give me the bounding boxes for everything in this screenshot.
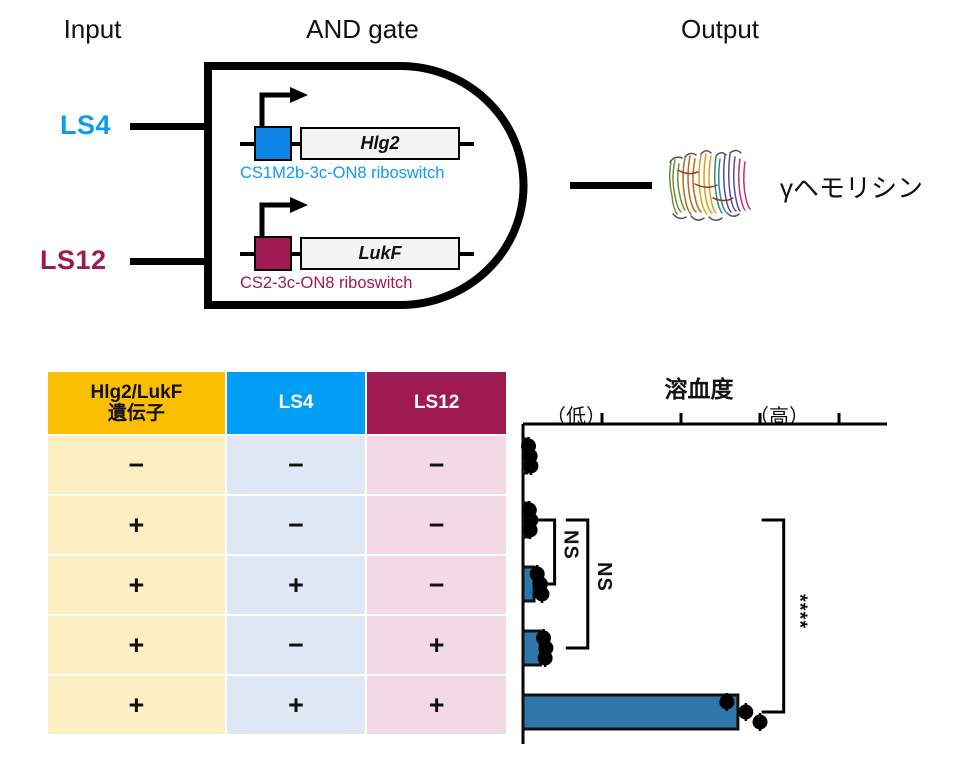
table-row: − − − bbox=[48, 436, 506, 494]
sig-label-stars: **** bbox=[788, 594, 811, 629]
heading-and-gate: AND gate bbox=[235, 14, 490, 45]
cell-ls4: − bbox=[227, 616, 366, 674]
dna-line-mid-hlg2 bbox=[292, 142, 300, 146]
table-row: + − + bbox=[48, 616, 506, 674]
input-label-ls4: LS4 bbox=[60, 110, 111, 141]
riboswitch-box-hlg2 bbox=[254, 126, 292, 161]
figure-root: Input AND gate Output LS4 LS12 Hlg2 CS1M… bbox=[0, 0, 979, 758]
table-row: + + + bbox=[48, 676, 506, 734]
cell-gene: + bbox=[48, 676, 225, 734]
riboswitch-box-lukf bbox=[254, 236, 292, 271]
gene-box-lukf: LukF bbox=[300, 237, 460, 270]
cell-ls12: − bbox=[367, 496, 506, 554]
cell-gene: + bbox=[48, 496, 225, 554]
table-row: + + − bbox=[48, 556, 506, 614]
chart-canvas bbox=[514, 368, 979, 758]
cell-gene: − bbox=[48, 436, 225, 494]
cell-ls12: + bbox=[367, 676, 506, 734]
table-row: + − − bbox=[48, 496, 506, 554]
table-header-row: Hlg2/LukF 遺伝子 LS4 LS12 bbox=[48, 372, 506, 434]
sig-label-ns-2: NS bbox=[592, 562, 615, 592]
dna-line-mid-lukf bbox=[292, 252, 300, 256]
riboswitch-label-lukf: CS2-3c-ON8 riboswitch bbox=[240, 274, 412, 293]
table-header-gene-line2: 遺伝子 bbox=[108, 403, 165, 424]
table-header-ls12: LS12 bbox=[367, 372, 506, 434]
cell-ls4: + bbox=[227, 556, 366, 614]
cell-gene: + bbox=[48, 616, 225, 674]
heading-input: Input bbox=[30, 14, 155, 45]
hemolysis-bar-chart: 溶血度 （低） （高） NS NS **** bbox=[514, 368, 979, 758]
table-header-gene-line1: Hlg2/LukF bbox=[90, 382, 182, 403]
cell-ls4: − bbox=[227, 496, 366, 554]
sig-label-ns-1: NS bbox=[559, 530, 582, 560]
dna-line-right-lukf bbox=[460, 252, 474, 256]
riboswitch-label-hlg2: CS1M2b-3c-ON8 riboswitch bbox=[240, 164, 444, 183]
truth-table: Hlg2/LukF 遺伝子 LS4 LS12 − − − + − − + + − bbox=[46, 370, 508, 736]
input-label-ls12: LS12 bbox=[40, 245, 107, 276]
cell-ls12: − bbox=[367, 556, 506, 614]
cell-ls4: − bbox=[227, 436, 366, 494]
cell-ls12: + bbox=[367, 616, 506, 674]
gamma-hemolysin-icon bbox=[665, 140, 760, 235]
cell-gene: + bbox=[48, 556, 225, 614]
gene-box-hlg2: Hlg2 bbox=[300, 127, 460, 160]
dna-line-left-hlg2 bbox=[240, 142, 254, 146]
heading-output: Output bbox=[615, 14, 825, 45]
output-wire bbox=[570, 182, 652, 189]
cell-ls4: + bbox=[227, 676, 366, 734]
table-header-gene: Hlg2/LukF 遺伝子 bbox=[48, 372, 225, 434]
cell-ls12: − bbox=[367, 436, 506, 494]
output-protein-label: γヘモリシン bbox=[780, 168, 923, 205]
dna-line-left-lukf bbox=[240, 252, 254, 256]
dna-line-right-hlg2 bbox=[460, 142, 474, 146]
table-header-ls4: LS4 bbox=[227, 372, 366, 434]
